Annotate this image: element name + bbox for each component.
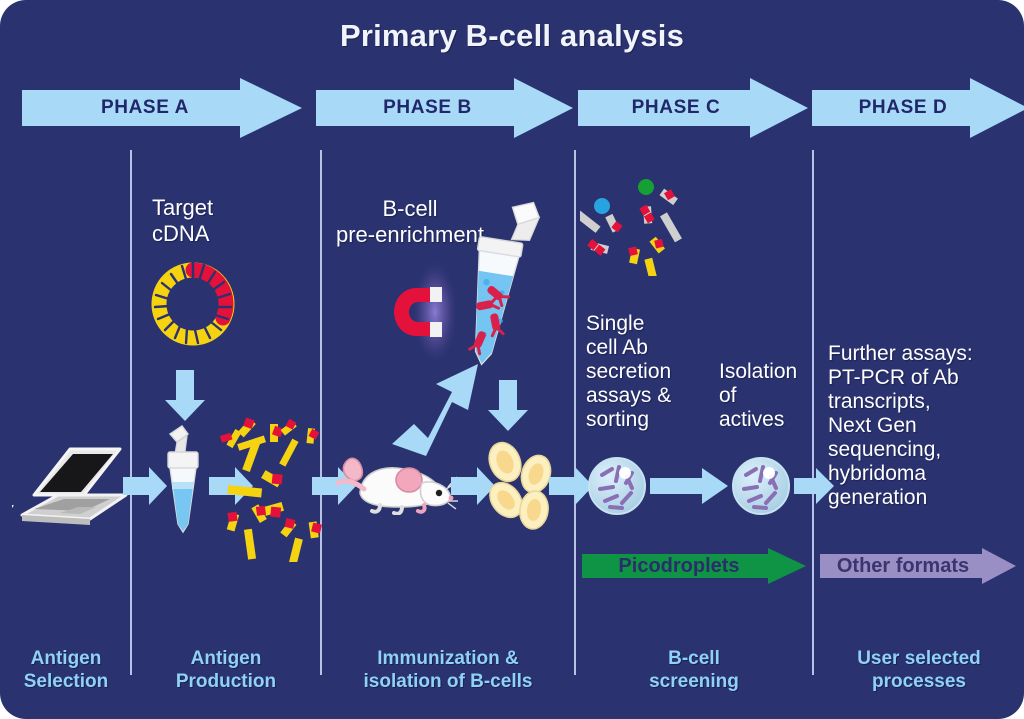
caption-line2: Production [134,671,318,693]
picodroplets-label: Picodroplets [582,555,806,578]
target-cdna-line1: Target [152,195,213,221]
caption-line2: Selection [2,671,130,693]
assay-line-2: cell Ab [586,336,671,360]
phase-arrow-b: PHASE B [316,78,573,138]
column-divider-4 [812,150,814,675]
caption-line2: screening [578,671,810,693]
column-divider-1 [130,150,132,675]
assay-line-4: assays & [586,384,671,408]
assay-line-1: Single [586,312,671,336]
phase-label: PHASE C [632,97,721,119]
isolation-of-actives-label: Isolation of actives [719,360,797,432]
target-cdna-line2: cDNA [152,221,213,247]
caption-bcell-screening: B-cell screening [578,648,810,693]
phase-label: PHASE B [383,97,472,119]
caption-line1: Antigen [134,648,318,670]
microcentrifuge-tube-icon [152,420,214,538]
further-line-6: hybridoma [828,462,973,486]
caption-line2: isolation of B-cells [324,671,572,693]
further-assays-label: Further assays: PT-PCR of Ab transcripts… [828,342,973,510]
phase-label: PHASE D [859,97,948,119]
further-line-4: Next Gen [828,414,973,438]
target-cdna-label: Target cDNA [152,195,213,246]
picodroplet-icon-1 [586,455,648,517]
isolation-line-3: actives [719,408,797,432]
caption-line1: B-cell [578,648,810,670]
phase-label: PHASE A [101,97,189,119]
assay-line-5: sorting [586,408,671,432]
figure-frame: Primary B-cell analysis PHASE A PHASE B [0,0,1024,719]
picodroplets-arrow: Picodroplets [582,548,806,584]
further-line-7: generation [828,486,973,510]
assay-line-3: secretion [586,360,671,384]
phase-arrow-a: PHASE A [22,78,302,138]
circular-dna-plasmid-icon [142,252,244,356]
single-cell-assay-label: Single cell Ab secretion assays & sortin… [586,312,671,432]
magnetic-enrichment-tube-icon [448,196,548,376]
caption-antigen-production: Antigen Production [134,648,318,693]
phase-arrow-c: PHASE C [578,78,808,138]
green-antigen-dot [638,179,654,195]
caption-line1: Immunization & [324,648,572,670]
further-line-1: Further assays: [828,342,973,366]
laboratory-mouse-icon [336,443,458,515]
page-title: Primary B-cell analysis [0,18,1024,54]
phase-arrow-d: PHASE D [812,78,1024,138]
flow-arrow-tube-to-bcells [487,380,529,432]
further-line-2: PT-PCR of Ab [828,366,973,390]
caption-user-selected-processes: User selected processes [816,648,1022,693]
caption-line1: User selected [816,648,1022,670]
picodroplet-icon-2 [730,455,792,517]
laptop-icon [12,437,130,533]
antibody-antigen-complex-icon [580,176,692,276]
blue-antigen-dot [594,198,610,214]
caption-antigen-selection: Antigen Selection [2,648,130,693]
figure-canvas: Primary B-cell analysis PHASE A PHASE B [0,0,1024,719]
flow-arrow-6 [650,467,728,505]
other-formats-arrow: Other formats [820,548,1016,584]
column-divider-3 [574,150,576,675]
caption-line1: Antigen [2,648,130,670]
further-line-5: sequencing, [828,438,973,462]
caption-line2: processes [816,671,1022,693]
caption-immunization-isolation: Immunization & isolation of B-cells [324,648,572,693]
other-formats-label: Other formats [820,555,1016,578]
further-line-3: transcripts, [828,390,973,414]
horseshoe-magnet-icon [386,284,444,340]
phase-band: PHASE A PHASE B PHASE C PHASE D [0,78,1024,140]
isolation-line-1: Isolation [719,360,797,384]
isolation-line-2: of [719,384,797,408]
flow-arrow-plasmid-to-tube [164,370,206,422]
